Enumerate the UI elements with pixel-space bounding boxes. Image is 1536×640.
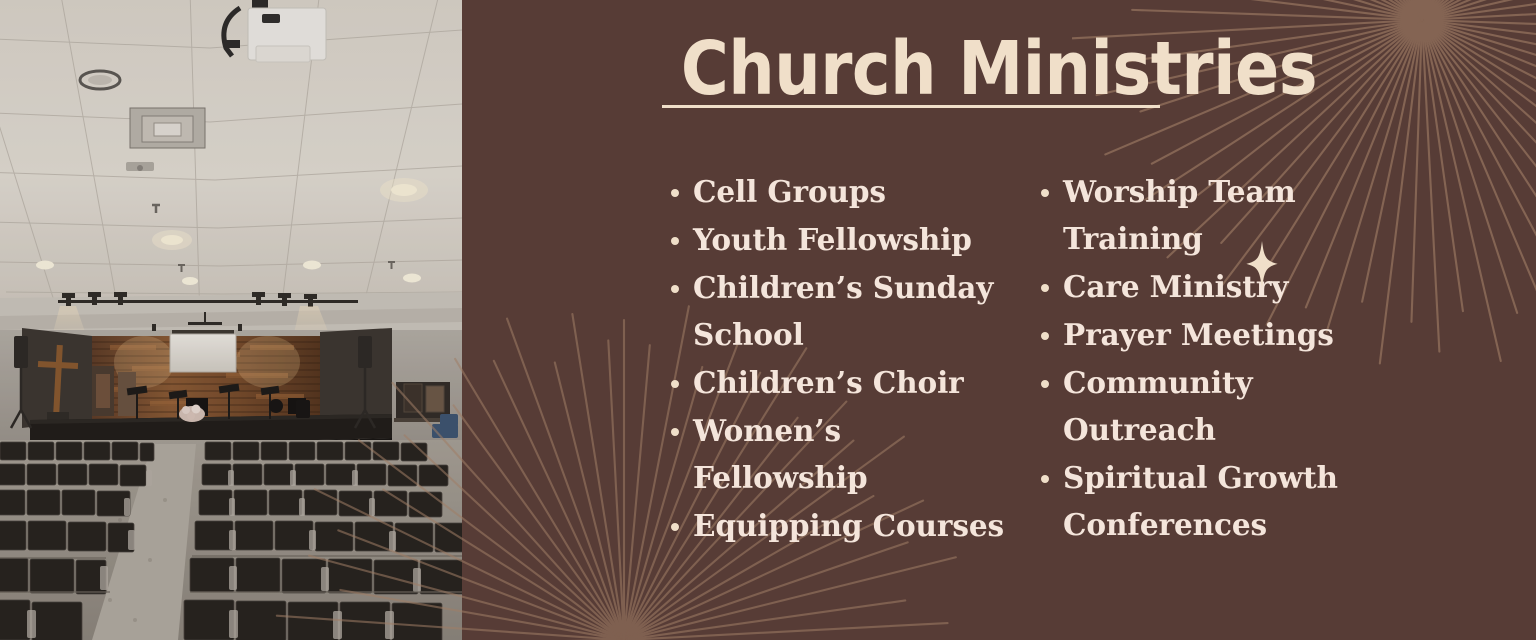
list-item: Worship Team Training — [1032, 168, 1412, 262]
ministry-column-right: Worship Team Training Care Ministry Pray… — [1032, 168, 1412, 549]
list-item: Care Ministry — [1032, 263, 1412, 310]
list-item: Spiritual Growth Conferences — [1032, 454, 1412, 548]
list-item: Cell Groups — [662, 168, 1022, 215]
ministry-column-left: Cell Groups Youth Fellowship Children’s … — [662, 168, 1022, 550]
ministry-list-right: Worship Team Training Care Ministry Pray… — [1032, 168, 1412, 548]
ministry-columns: Cell Groups Youth Fellowship Children’s … — [462, 168, 1536, 588]
list-item: Community Outreach — [1032, 359, 1412, 453]
slide-title-block: Church Ministries — [462, 26, 1536, 112]
content-panel: Church Ministries Cell Groups Youth Fell… — [462, 0, 1536, 640]
list-item: Children’s Choir — [662, 359, 1022, 406]
slide-canvas: Church Ministries Cell Groups Youth Fell… — [0, 0, 1536, 640]
list-item: Women’s Fellowship — [662, 407, 1022, 501]
list-item: Equipping Courses — [662, 502, 1022, 549]
list-item: Youth Fellowship — [662, 216, 1022, 263]
title-underline — [662, 105, 1160, 108]
sanctuary-photo-illustration — [0, 0, 462, 640]
list-item: Children’s Sunday School — [662, 264, 1022, 358]
ministry-list-left: Cell Groups Youth Fellowship Children’s … — [662, 168, 1022, 549]
list-item: Prayer Meetings — [1032, 311, 1412, 358]
church-sanctuary-photo — [0, 0, 462, 640]
page-title: Church Ministries — [473, 26, 1526, 112]
